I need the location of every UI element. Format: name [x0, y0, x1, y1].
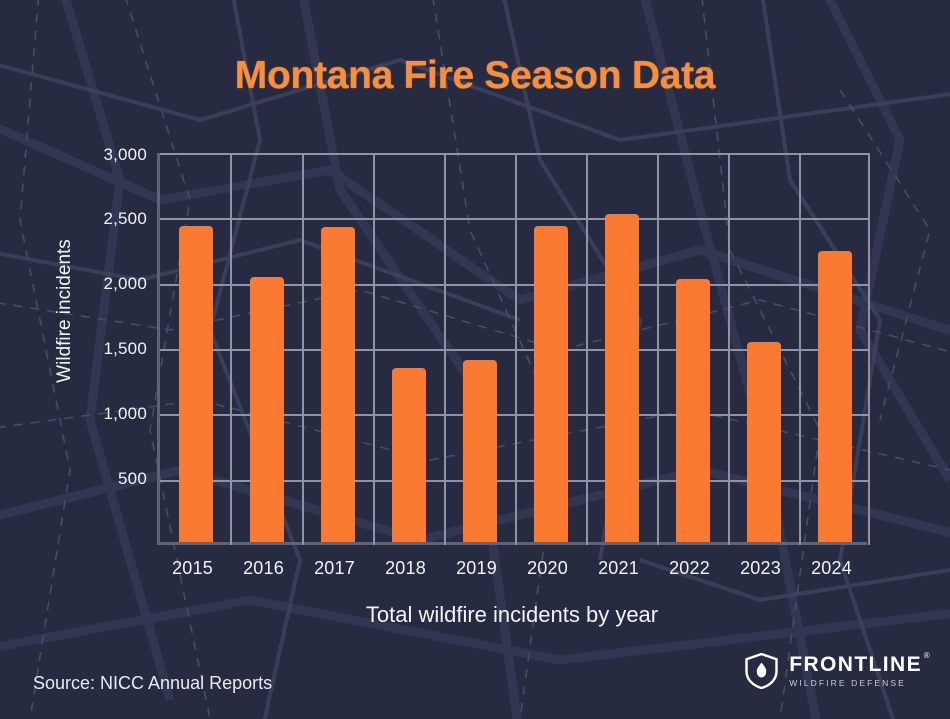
- y-tick-3000: 3,000: [57, 145, 147, 165]
- x-tick-2020: 2020: [512, 558, 583, 579]
- x-tick-2016: 2016: [228, 558, 299, 579]
- bar-slot: [728, 150, 799, 542]
- bar-2024[interactable]: [818, 251, 852, 542]
- x-tick-2017: 2017: [299, 558, 370, 579]
- brand-logo: FRONTLINE® WILDFIRE DEFENSE: [745, 653, 922, 689]
- source-note: Source: NICC Annual Reports: [33, 673, 272, 694]
- bar-slot: [444, 150, 515, 542]
- x-tick-2024: 2024: [796, 558, 867, 579]
- x-tick-2015: 2015: [157, 558, 228, 579]
- bar-slot: [302, 150, 373, 542]
- y-tick-2500: 2,500: [57, 209, 147, 229]
- brand-tagline: WILDFIRE DEFENSE: [789, 679, 922, 688]
- bar-2021[interactable]: [605, 214, 639, 542]
- bar-slot: [373, 150, 444, 542]
- bar-slot: [657, 150, 728, 542]
- brand-name: FRONTLINE®: [789, 654, 922, 675]
- brand-logo-text: FRONTLINE® WILDFIRE DEFENSE: [789, 654, 922, 688]
- bar-slot: [586, 150, 657, 542]
- bar-slot: [231, 150, 302, 542]
- bar-slot: [160, 150, 231, 542]
- plot-area: [157, 153, 867, 545]
- y-tick-2000: 2,000: [57, 274, 147, 294]
- bar-2017[interactable]: [321, 227, 355, 542]
- x-tick-2018: 2018: [370, 558, 441, 579]
- bar-2020[interactable]: [534, 226, 568, 542]
- x-axis-tick-group: 2015201620172018201920202021202220232024: [157, 558, 867, 579]
- y-tick-500: 500: [57, 469, 147, 489]
- bar-series: [160, 150, 870, 542]
- y-tick-1000: 1,000: [57, 404, 147, 424]
- bar-2018[interactable]: [392, 368, 426, 542]
- brand-name-text: FRONTLINE: [789, 653, 922, 676]
- registered-trademark-icon: ®: [924, 652, 931, 660]
- bar-2015[interactable]: [179, 226, 213, 542]
- bar-slot: [799, 150, 870, 542]
- x-tick-2019: 2019: [441, 558, 512, 579]
- y-tick-1500: 1,500: [57, 339, 147, 359]
- infographic-canvas: Montana Fire Season Data Wildfire incide…: [0, 0, 950, 719]
- bar-2019[interactable]: [463, 360, 497, 542]
- shield-flame-icon: [745, 653, 778, 689]
- bar-2023[interactable]: [747, 342, 781, 542]
- x-tick-2023: 2023: [725, 558, 796, 579]
- bar-2016[interactable]: [250, 277, 284, 542]
- x-tick-2022: 2022: [654, 558, 725, 579]
- y-axis-tick-group: 500 1,000 1,500 2,000 2,500 3,000: [42, 0, 147, 719]
- x-axis-label: Total wildfire incidents by year: [157, 602, 867, 628]
- bar-2022[interactable]: [676, 279, 710, 542]
- x-tick-2021: 2021: [583, 558, 654, 579]
- bar-slot: [515, 150, 586, 542]
